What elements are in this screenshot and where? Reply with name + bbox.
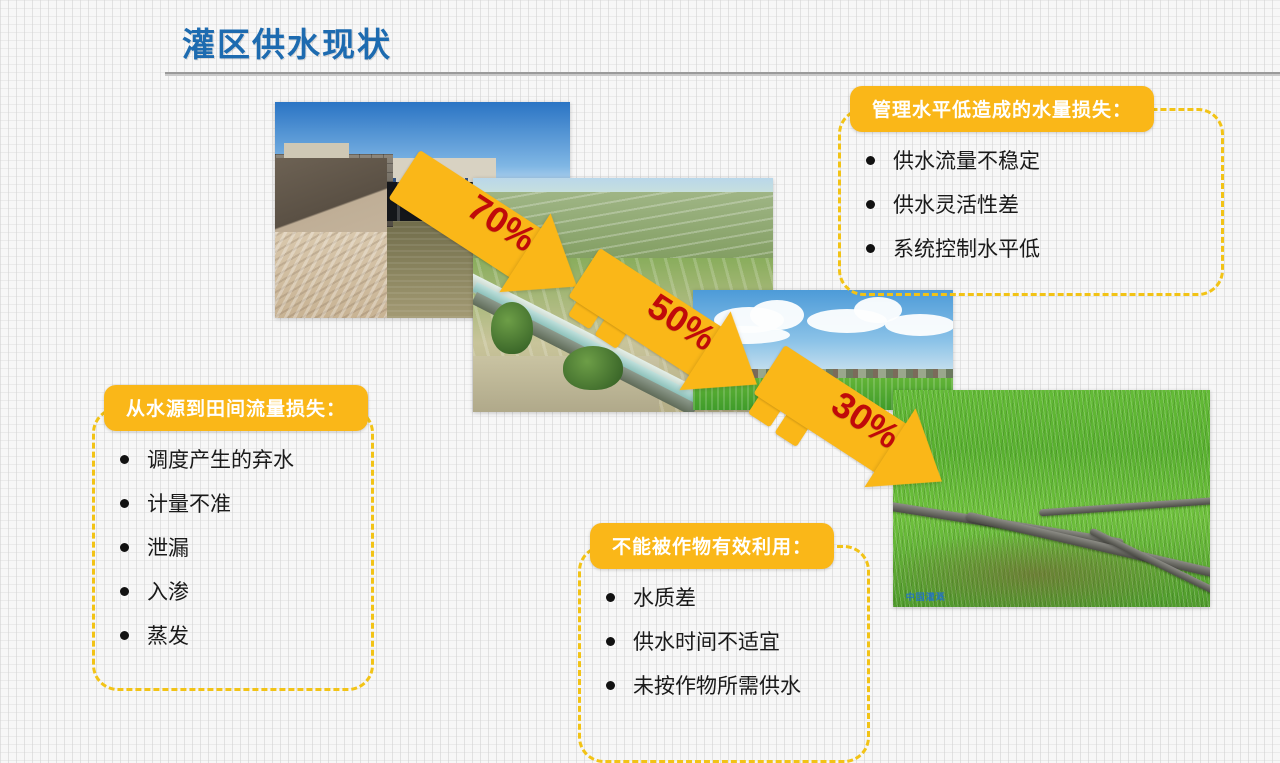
bullet-icon (120, 543, 129, 552)
list-item-label: 供水流量不稳定 (893, 145, 1040, 175)
list-item: 计量不准 (120, 481, 294, 525)
callout-header: 从水源到田间流量损失： (104, 385, 368, 431)
bullet-icon (866, 244, 875, 253)
callout-header: 管理水平低造成的水量损失： (850, 86, 1154, 132)
list-item: 未按作物所需供水 (606, 663, 801, 707)
bullet-icon (866, 156, 875, 165)
list-item: 系统控制水平低 (866, 226, 1040, 270)
list-item: 调度产生的弃水 (120, 437, 294, 481)
list-item: 入渗 (120, 569, 294, 613)
list-item: 供水时间不适宜 (606, 619, 801, 663)
list-item-label: 调度产生的弃水 (147, 444, 294, 474)
bullet-icon (120, 499, 129, 508)
list-item: 供水流量不稳定 (866, 138, 1040, 182)
list-item: 泄漏 (120, 525, 294, 569)
list-item: 蒸发 (120, 613, 294, 657)
bullet-icon (120, 631, 129, 640)
list-item-label: 泄漏 (147, 532, 189, 562)
photo-watermark: 中国灌溉 (906, 590, 946, 603)
bullet-icon (606, 681, 615, 690)
callout-header: 不能被作物有效利用： (590, 523, 834, 569)
callout-list: 调度产生的弃水 计量不准 泄漏 入渗 蒸发 (120, 437, 294, 657)
list-item-label: 蒸发 (147, 620, 189, 650)
bullet-icon (120, 587, 129, 596)
list-item-label: 供水时间不适宜 (633, 626, 780, 656)
page-title: 灌区供水现状 (182, 18, 392, 66)
list-item: 供水灵活性差 (866, 182, 1040, 226)
bullet-icon (606, 637, 615, 646)
title-divider (165, 72, 1280, 76)
list-item-label: 计量不准 (147, 488, 231, 518)
list-item-label: 供水灵活性差 (893, 189, 1019, 219)
callout-list: 供水流量不稳定 供水灵活性差 系统控制水平低 (866, 138, 1040, 270)
bullet-icon (866, 200, 875, 209)
list-item-label: 系统控制水平低 (893, 233, 1040, 263)
list-item-label: 水质差 (633, 582, 696, 612)
list-item-label: 未按作物所需供水 (633, 670, 801, 700)
bullet-icon (120, 455, 129, 464)
bullet-icon (606, 593, 615, 602)
field-irrigation-pipes-photo: 中国灌溉 (893, 390, 1210, 607)
list-item: 水质差 (606, 575, 801, 619)
callout-list: 水质差 供水时间不适宜 未按作物所需供水 (606, 575, 801, 707)
list-item-label: 入渗 (147, 576, 189, 606)
